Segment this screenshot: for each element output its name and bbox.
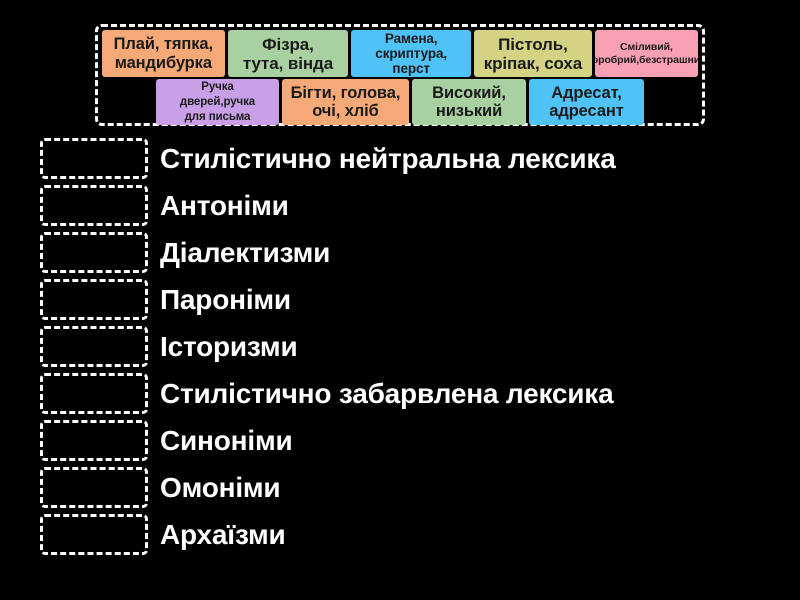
answer-row-historicisms: Історизми	[0, 323, 800, 370]
answer-row-synonyms: Синоніми	[0, 417, 800, 464]
answer-label-historicisms: Історизми	[160, 333, 297, 361]
answer-label-neutral-lexis: Стилістично нейтральна лексика	[160, 145, 616, 173]
answer-row-homonyms: Омоніми	[0, 464, 800, 511]
answer-list: Стилістично нейтральна лексика Антоніми …	[0, 135, 800, 558]
tile-bihty[interactable]: Бігти, голова, очі, хліб	[282, 79, 409, 125]
drop-zone-synonyms[interactable]	[40, 420, 148, 461]
tile-bank-row-1: Плай, тяпка, мандибурка Фізра, тута, він…	[102, 30, 698, 77]
answer-label-archaisms: Архаїзми	[160, 521, 286, 549]
drop-zone-antonyms[interactable]	[40, 185, 148, 226]
drop-zone-archaisms[interactable]	[40, 514, 148, 555]
tile-ramena[interactable]: Рамена, скриптура, перст	[351, 30, 471, 77]
answer-label-homonyms: Омоніми	[160, 474, 280, 502]
tile-plai[interactable]: Плай, тяпка, мандибурка	[102, 30, 225, 77]
answer-row-marked-lexis: Стилістично забарвлена лексика	[0, 370, 800, 417]
tile-pistol[interactable]: Пістоль, кріпак, соха	[474, 30, 592, 77]
answer-label-dialectisms: Діалектизми	[160, 239, 330, 267]
tile-bank: Плай, тяпка, мандибурка Фізра, тута, він…	[95, 24, 705, 126]
drop-zone-historicisms[interactable]	[40, 326, 148, 367]
answer-label-synonyms: Синоніми	[160, 427, 292, 455]
answer-label-antonyms: Антоніми	[160, 192, 289, 220]
answer-row-neutral-lexis: Стилістично нейтральна лексика	[0, 135, 800, 182]
tile-smilyvyi[interactable]: Сміливий, хоробрий,безстрашний	[595, 30, 698, 77]
tile-bank-row-2: Ручка дверей,ручка для письма Бігти, гол…	[102, 79, 698, 125]
answer-label-marked-lexis: Стилістично забарвлена лексика	[160, 380, 613, 408]
tile-fizra[interactable]: Фізра, тута, вінда	[228, 30, 349, 77]
answer-row-dialectisms: Діалектизми	[0, 229, 800, 276]
tile-ruchka[interactable]: Ручка дверей,ручка для письма	[156, 79, 279, 125]
answer-row-archaisms: Архаїзми	[0, 511, 800, 558]
drop-zone-homonyms[interactable]	[40, 467, 148, 508]
drop-zone-marked-lexis[interactable]	[40, 373, 148, 414]
drop-zone-neutral-lexis[interactable]	[40, 138, 148, 179]
answer-label-paronyms: Пароніми	[160, 286, 291, 314]
answer-row-paronyms: Пароніми	[0, 276, 800, 323]
tile-vysokyi[interactable]: Високий, низький	[412, 79, 526, 125]
tile-adresat[interactable]: Адресат, адресант	[529, 79, 644, 125]
answer-row-antonyms: Антоніми	[0, 182, 800, 229]
drop-zone-dialectisms[interactable]	[40, 232, 148, 273]
drop-zone-paronyms[interactable]	[40, 279, 148, 320]
